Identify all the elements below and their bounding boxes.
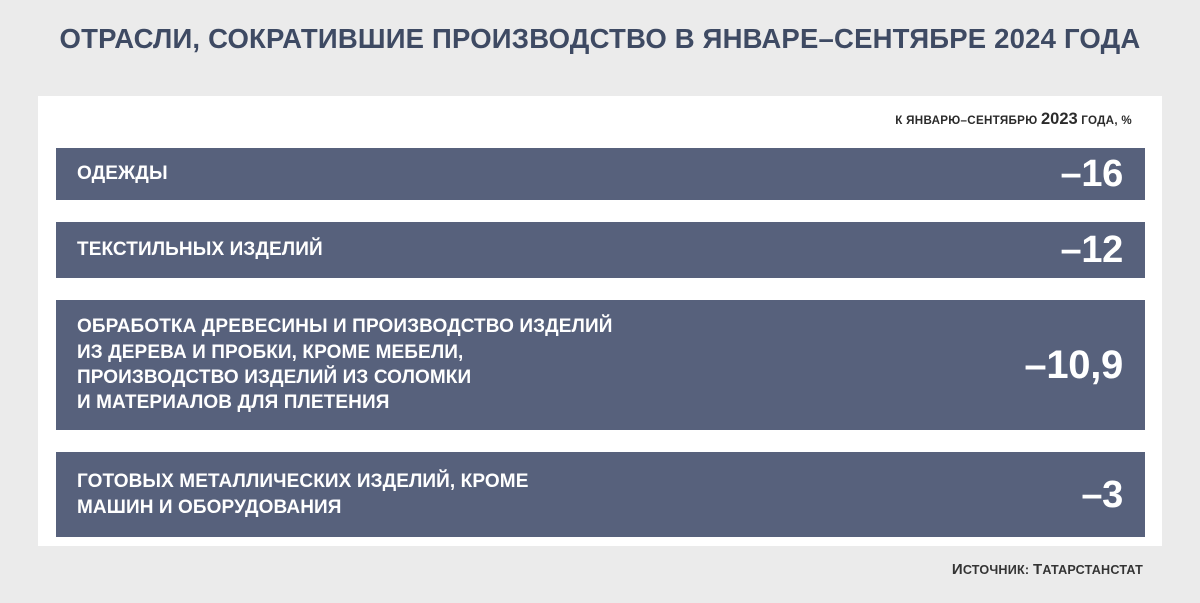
chart-card: К ЯНВАРЮ–СЕНТЯБРЮ 2023 ГОДА, % ОДЕЖДЫ –1… (38, 96, 1162, 546)
bar-list: ОДЕЖДЫ –16 ТЕКСТИЛЬНЫХ ИЗДЕЛИЙ –12 ОБРАБ… (56, 148, 1145, 559)
source-org: АТАРСТАНСТАТ (1042, 563, 1143, 577)
page-title: ОТРАСЛИ, СОКРАТИВШИЕ ПРОИЗВОДСТВО В ЯНВА… (0, 24, 1200, 54)
bar-row[interactable]: ГОТОВЫХ МЕТАЛЛИЧЕСКИХ ИЗДЕЛИЙ, КРОМЕМАШИ… (56, 452, 1145, 537)
chart-subtitle: К ЯНВАРЮ–СЕНТЯБРЮ 2023 ГОДА, % (895, 110, 1132, 129)
source-label: СТОЧНИК: (963, 563, 1033, 577)
bar-label: ТЕКСТИЛЬНЫХ ИЗДЕЛИЙ (77, 237, 1060, 262)
source-org-initial: Т (1033, 561, 1042, 578)
bar-value: –12 (1060, 231, 1123, 269)
bar-label: ОБРАБОТКА ДРЕВЕСИНЫ И ПРОИЗВОДСТВО ИЗДЕЛ… (77, 314, 1024, 415)
subtitle-year: 2023 (1041, 110, 1078, 128)
bar-value: –3 (1081, 476, 1123, 514)
bar-value: –10,9 (1024, 345, 1123, 385)
bar-value: –16 (1060, 155, 1123, 193)
infographic-page: ОТРАСЛИ, СОКРАТИВШИЕ ПРОИЗВОДСТВО В ЯНВА… (0, 0, 1200, 603)
source-attribution: ИСТОЧНИК: ТАТАРСТАНСТАТ (952, 561, 1143, 578)
bar-label: ОДЕЖДЫ (77, 161, 1060, 186)
bar-label: ГОТОВЫХ МЕТАЛЛИЧЕСКИХ ИЗДЕЛИЙ, КРОМЕМАШИ… (77, 469, 1081, 520)
source-prefix-initial: И (952, 561, 963, 578)
subtitle-prefix: К ЯНВАРЮ–СЕНТЯБРЮ (895, 114, 1041, 127)
subtitle-suffix: ГОДА, % (1078, 114, 1132, 127)
bar-row[interactable]: ТЕКСТИЛЬНЫХ ИЗДЕЛИЙ –12 (56, 222, 1145, 278)
bar-row[interactable]: ОБРАБОТКА ДРЕВЕСИНЫ И ПРОИЗВОДСТВО ИЗДЕЛ… (56, 300, 1145, 430)
bar-row[interactable]: ОДЕЖДЫ –16 (56, 148, 1145, 200)
